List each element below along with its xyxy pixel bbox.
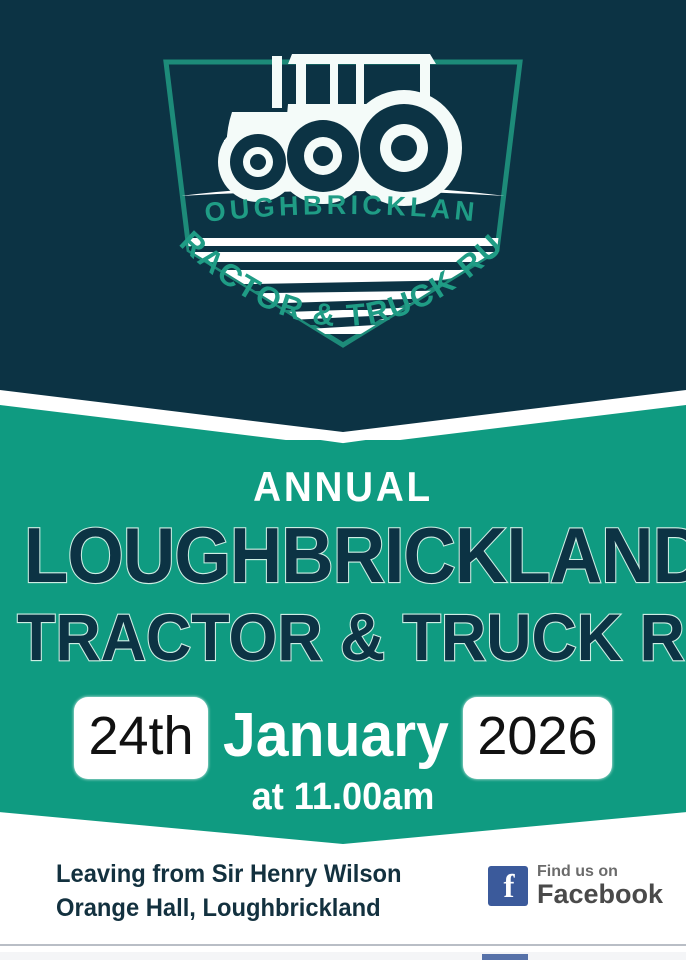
- crest-logo-svg: LOUGHBRICKLAND TRACTOR & TRUCK RUN: [0, 0, 686, 400]
- crest-logo: LOUGHBRICKLAND TRACTOR & TRUCK RUN: [0, 0, 686, 400]
- facebook-find-us-text: Find us on: [537, 864, 663, 880]
- venue-line-1: Leaving from Sir Henry Wilson: [56, 858, 402, 892]
- facebook-callout[interactable]: f Find us on Facebook: [488, 864, 663, 908]
- bottom-cutoff-area: [0, 952, 686, 960]
- poster-header-panel: LOUGHBRICKLAND TRACTOR & TRUCK RUN: [0, 0, 686, 440]
- event-month: January: [223, 705, 449, 771]
- venue-details: Leaving from Sir Henry Wilson Orange Hal…: [56, 858, 402, 926]
- facebook-f-glyph: f: [488, 866, 528, 906]
- bottom-cutoff-facebook-icon: [482, 954, 528, 960]
- event-year-chip: 2026: [463, 697, 611, 779]
- venue-line-2: Orange Hall, Loughbrickland: [56, 892, 402, 926]
- event-date-row: 24th January 2026: [0, 698, 686, 778]
- event-poster: LOUGHBRICKLAND TRACTOR & TRUCK RUN ANNUA…: [0, 0, 686, 960]
- poster-footer-panel: Leaving from Sir Henry Wilson Orange Hal…: [0, 844, 686, 960]
- facebook-network-name: Facebook: [537, 881, 663, 908]
- kicker-text: ANNUAL: [27, 466, 658, 508]
- event-time: at 11.00am: [17, 778, 669, 816]
- poster-title-line1: LOUGHBRICKLAND: [24, 516, 662, 594]
- poster-title-line2: TRACTOR & TRUCK RUN: [17, 604, 669, 670]
- bottom-divider: [0, 944, 686, 946]
- facebook-icon[interactable]: f: [488, 866, 528, 906]
- facebook-label: Find us on Facebook: [537, 864, 663, 908]
- event-day-chip: 24th: [74, 697, 207, 779]
